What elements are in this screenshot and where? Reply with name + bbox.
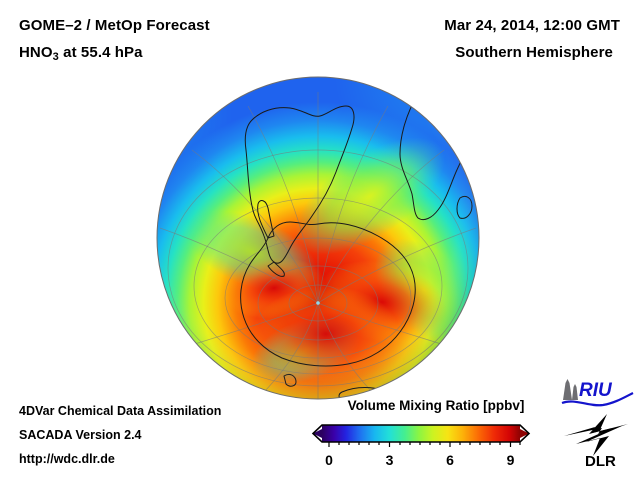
dlr-logo-text: DLR: [585, 453, 616, 470]
south-pole-marker: [316, 301, 320, 305]
colorbar-title: Volume Mixing Ratio [ppbv]: [336, 398, 536, 413]
figure-canvas: GOME–2 / MetOp Forecast HNO3 at 55.4 hPa…: [0, 0, 640, 480]
colorbar: [306, 418, 536, 448]
dlr-logo-graphic: DLR: [562, 412, 632, 470]
cooling-towers-icon: [563, 379, 578, 400]
species-formula-prefix: HNO: [19, 44, 53, 61]
credit-line-method: 4DVar Chemical Data Assimilation: [19, 404, 221, 418]
title-species: HNO3 at 55.4 hPa: [19, 44, 143, 61]
riu-logo-text: RIU: [579, 380, 613, 401]
colorbar-tick-label-6: 6: [435, 452, 465, 468]
colorbar-graphic: [306, 418, 536, 448]
colorbar-tick-label-0: 0: [314, 452, 344, 468]
title-instrument: GOME–2 / MetOp Forecast: [19, 17, 210, 34]
riu-logo-graphic: RIU: [559, 374, 635, 408]
data-field: [156, 76, 480, 400]
colorbar-tick-label-9: 9: [496, 452, 526, 468]
species-level-text: at 55.4 hPa: [59, 44, 143, 61]
dlr-logo: DLR: [562, 412, 632, 470]
colorbar-tick-label-3: 3: [375, 452, 405, 468]
credit-line-url[interactable]: http://wdc.dlr.de: [19, 452, 115, 466]
credit-line-version: SACADA Version 2.4: [19, 428, 142, 442]
region-label: Southern Hemisphere: [455, 44, 613, 61]
colorbar-body: [322, 425, 520, 442]
dlr-pinwheel-icon: [564, 414, 628, 456]
riu-logo: RIU: [559, 374, 635, 408]
timestamp-label: Mar 24, 2014, 12:00 GMT: [444, 17, 620, 34]
species-formula-subscript: 3: [53, 51, 59, 63]
globe-map: [156, 76, 480, 400]
orthographic-projection: [156, 76, 480, 400]
